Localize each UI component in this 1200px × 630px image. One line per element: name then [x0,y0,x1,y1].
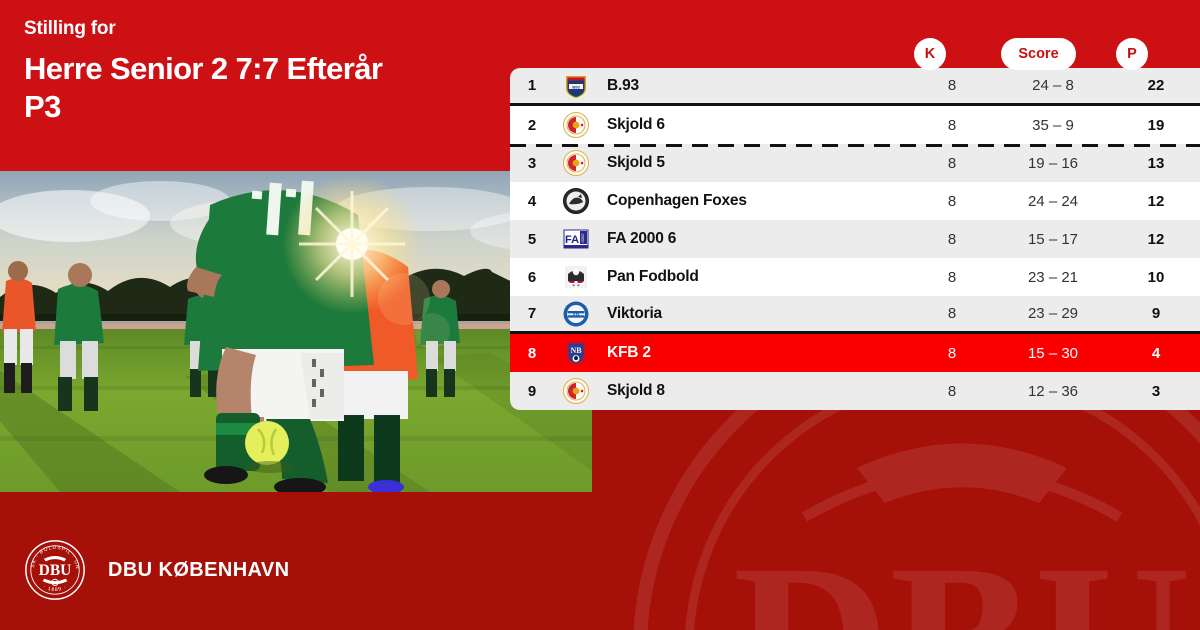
svg-text:FA: FA [565,234,579,246]
svg-text:DBU: DBU [39,562,72,579]
row-score: 23 – 29 [994,305,1112,322]
row-played: 8 [910,383,994,400]
row-team-name: FA 2000 6 [598,230,910,248]
table-row[interactable]: 4 Copenhagen Foxes 8 24 – 24 12 [510,182,1200,220]
svg-text:VB: VB [573,312,580,318]
row-team-name: KFB 2 [598,344,910,362]
footer-bar: DANSK · BOLDSPIL · UNION · 1889 · DBU DB… [0,510,1200,630]
table-row[interactable]: 1 B93 B.93 8 24 – 8 22 [510,68,1200,106]
row-score: 24 – 24 [994,193,1112,210]
row-played: 8 [910,305,994,322]
row-team-name: Copenhagen Foxes [598,192,910,210]
row-score: 35 – 9 [994,117,1112,134]
row-played: 8 [910,117,994,134]
table-row[interactable]: 6 Pan Fodbold 8 23 – 21 10 [510,258,1200,296]
football-match-photo [0,171,592,492]
row-score: 12 – 36 [994,383,1112,400]
row-team-name: Skjold 5 [598,154,910,172]
table-row[interactable]: 2 Skjold 6 8 35 – 9 19 [510,106,1200,144]
row-points: 10 [1112,269,1200,286]
row-played: 8 [910,193,994,210]
row-position: 1 [510,77,554,94]
row-team-name: Viktoria [598,305,910,323]
row-position: 5 [510,231,554,248]
table-row[interactable]: 5 FA 2000 FA 2000 6 8 15 – 17 12 [510,220,1200,258]
skjold-logo [554,112,598,138]
row-played: 8 [910,345,994,362]
copenhagen-foxes-logo [554,188,598,214]
row-played: 8 [910,77,994,94]
row-score: 15 – 17 [994,231,1112,248]
row-position: 7 [510,305,554,322]
row-position: 2 [510,117,554,134]
row-team-name: B.93 [598,77,910,95]
column-header-k: K [914,38,946,70]
row-points: 9 [1112,305,1200,322]
table-row[interactable]: 9 Skjold 8 8 12 – 36 3 [510,372,1200,410]
row-position: 6 [510,269,554,286]
svg-text:NB: NB [570,346,582,355]
b93-logo: B93 [554,73,598,99]
pan-fodbold-logo [554,264,598,290]
row-score: 15 – 30 [994,345,1112,362]
row-score: 19 – 16 [994,155,1112,172]
column-header-badges: K Score P [0,38,1200,70]
column-header-score: Score [1001,38,1076,70]
row-points: 13 [1112,155,1200,172]
row-score: 23 – 21 [994,269,1112,286]
column-header-p: P [1116,38,1148,70]
svg-text:B93: B93 [572,84,580,89]
svg-text:2000: 2000 [581,234,586,244]
header-text-block: Stilling for Herre Senior 2 7:7 Efterår … [24,18,494,125]
footer-org-name: DBU KØBENHAVN [108,559,290,582]
table-row[interactable]: 3 Skjold 5 8 19 – 16 13 [510,144,1200,182]
row-position: 3 [510,155,554,172]
row-position: 8 [510,345,554,362]
row-points: 12 [1112,231,1200,248]
row-points: 22 [1112,77,1200,94]
row-points: 4 [1112,345,1200,362]
table-row[interactable]: 7 VB Viktoria 8 23 – 29 9 [510,296,1200,334]
row-team-name: Pan Fodbold [598,268,910,286]
kfb-logo: NB [554,340,598,366]
row-points: 3 [1112,383,1200,400]
dbu-logo-icon: DANSK · BOLDSPIL · UNION · 1889 · DBU [24,539,86,601]
row-position: 9 [510,383,554,400]
row-played: 8 [910,231,994,248]
viktoria-logo: VB [554,301,598,327]
row-position: 4 [510,193,554,210]
row-points: 19 [1112,117,1200,134]
table-row-highlighted[interactable]: 8 NB KFB 2 8 15 – 30 4 [510,334,1200,372]
row-played: 8 [910,155,994,172]
skjold-logo [554,378,598,404]
row-team-name: Skjold 6 [598,116,910,134]
skjold-logo [554,150,598,176]
row-score: 24 – 8 [994,77,1112,94]
standings-table: 1 B93 B.93 8 24 – 8 22 2 Skjold [510,68,1200,410]
row-points: 12 [1112,193,1200,210]
fa2000-logo: FA 2000 [554,226,598,252]
row-team-name: Skjold 8 [598,382,910,400]
row-played: 8 [910,269,994,286]
